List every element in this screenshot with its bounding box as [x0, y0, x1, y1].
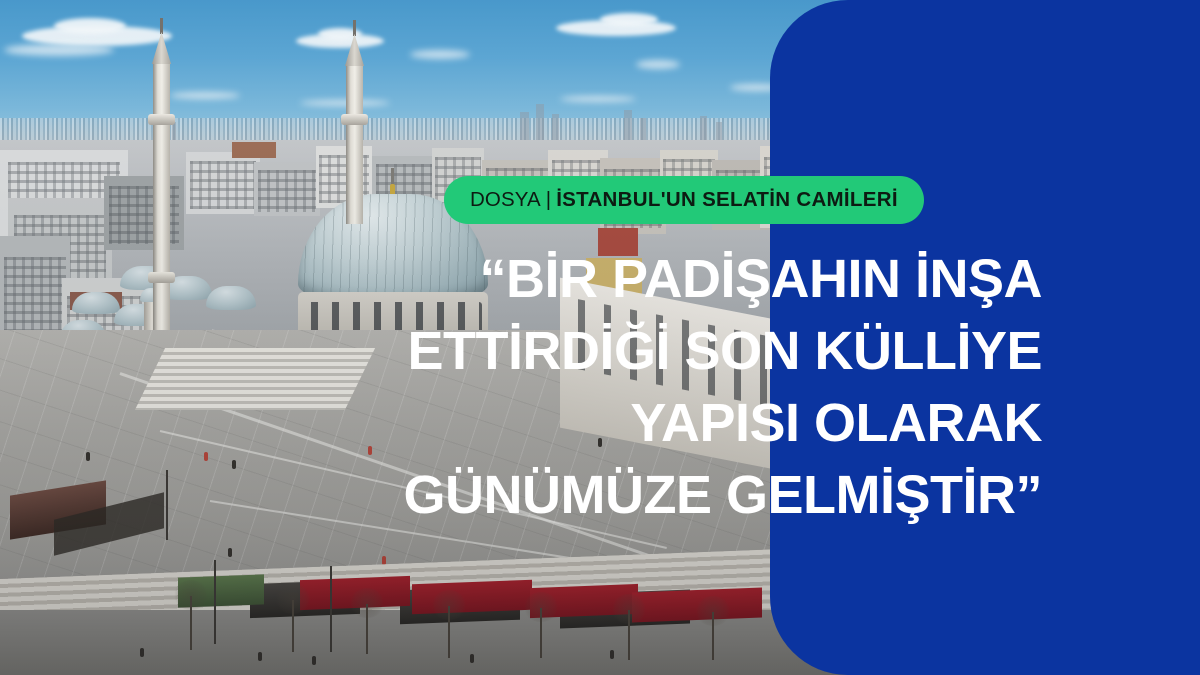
badge-separator: |	[541, 188, 556, 212]
small-dome	[72, 292, 120, 314]
bare-tree	[448, 606, 450, 658]
pedestrian	[258, 652, 262, 661]
bare-tree	[712, 612, 714, 660]
headline: “BİR PADİŞAHIN İNŞA ETTİRDİĞİ SON KÜLLİY…	[300, 243, 1042, 531]
headline-line-4: GÜNÜMÜZE GELMİŞTİR”	[300, 459, 1042, 531]
category-badge: DOSYA | İSTANBUL'UN SELATİN CAMİLERİ	[444, 176, 924, 224]
small-dome	[206, 286, 256, 310]
pedestrian	[610, 650, 614, 659]
building	[232, 142, 276, 158]
thumbnail-canvas: DOSYA | İSTANBUL'UN SELATİN CAMİLERİ “Bİ…	[0, 0, 1200, 675]
street-lamp	[166, 470, 168, 540]
pedestrian	[312, 656, 316, 665]
pedestrian	[232, 460, 236, 469]
street-lamp	[214, 560, 216, 644]
bare-tree	[190, 596, 192, 650]
pedestrian	[204, 452, 208, 461]
pedestrian	[228, 548, 232, 557]
cloud	[54, 18, 126, 34]
headline-line-2: ETTİRDİĞİ SON KÜLLİYE	[300, 315, 1042, 387]
minaret-balcony	[341, 114, 368, 125]
pedestrian	[470, 654, 474, 663]
minaret-balcony	[148, 272, 175, 283]
minaret-balcony	[148, 114, 175, 125]
cloud	[170, 92, 240, 99]
cloud	[560, 96, 636, 102]
shop-awning	[412, 580, 532, 615]
badge-kicker: DOSYA	[470, 188, 541, 212]
bare-tree	[366, 604, 368, 654]
street-lamp	[330, 566, 332, 652]
minaret-right	[346, 64, 363, 224]
distant-tower	[624, 110, 632, 144]
cloud	[600, 13, 658, 26]
cloud	[636, 60, 680, 69]
cloud	[410, 50, 470, 59]
pedestrian	[140, 648, 144, 657]
bare-tree	[292, 600, 294, 652]
badge-title: İSTANBUL'UN SELATİN CAMİLERİ	[556, 188, 898, 212]
headline-line-1: “BİR PADİŞAHIN İNŞA	[300, 243, 1042, 315]
bare-tree	[540, 608, 542, 658]
distant-tower	[536, 104, 544, 144]
cloud	[300, 100, 390, 106]
pedestrian	[86, 452, 90, 461]
bare-tree	[628, 610, 630, 660]
minaret-spike	[353, 20, 356, 36]
minaret-spike	[160, 18, 163, 34]
headline-line-3: YAPISI OLARAK	[300, 387, 1042, 459]
cloud	[4, 44, 114, 56]
